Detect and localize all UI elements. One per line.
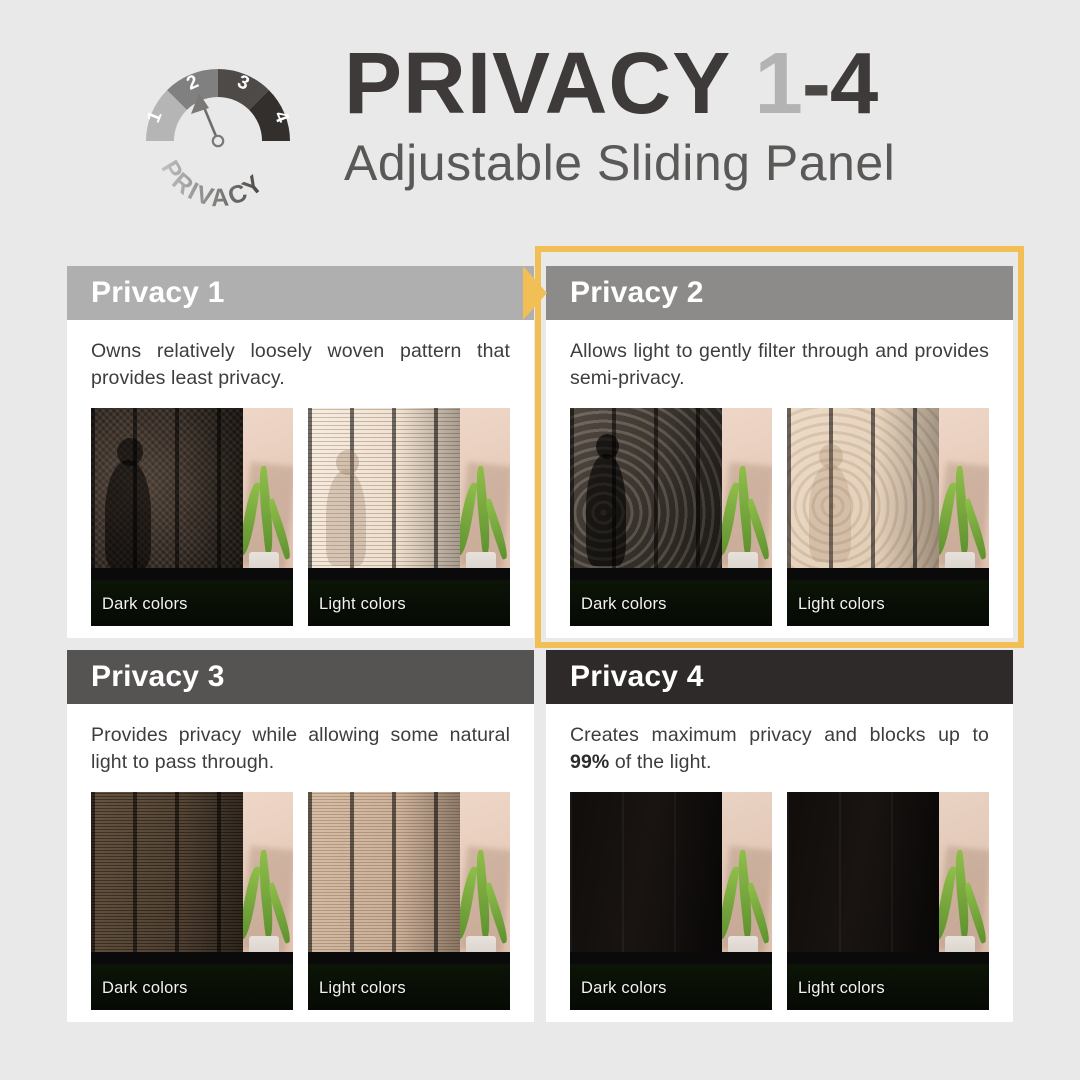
privacy-card-3-photos: Dark colors Light colors [91, 792, 510, 1010]
privacy-card-4-description-pre: Creates maximum privacy and blocks up to [570, 724, 989, 746]
page-header: 1 2 3 4 PRIVACY PRIVACY 1-4 Adjustable S… [0, 0, 1080, 240]
page-subtitle: Adjustable Sliding Panel [344, 131, 895, 195]
privacy-card-1-photo-light: Light colors [308, 408, 510, 626]
privacy-card-3-photo-light-caption: Light colors [319, 979, 406, 998]
privacy-card-4-photo-dark-caption: Dark colors [581, 979, 667, 998]
page-title-number-last: 4 [830, 35, 877, 132]
title-block: PRIVACY 1-4 Adjustable Sliding Panel [344, 41, 895, 194]
page-title: PRIVACY 1-4 [344, 41, 895, 126]
privacy-card-4-description-post: of the light. [609, 751, 711, 773]
privacy-card-2-title: Privacy 2 [570, 276, 704, 310]
privacy-card-3-header: Privacy 3 [67, 650, 534, 704]
privacy-card-2-photo-light-caption: Light colors [798, 595, 885, 614]
privacy-card-2-photo-light: Light colors [787, 408, 989, 626]
privacy-card-2-photo-dark-caption: Dark colors [581, 595, 667, 614]
right-arrow-marker-icon [523, 266, 547, 320]
privacy-card-3-title: Privacy 3 [91, 660, 225, 694]
page-title-number-first: 1 [754, 35, 801, 132]
privacy-card-4-title: Privacy 4 [570, 660, 704, 694]
privacy-card-3-body: Provides privacy while allowing some nat… [67, 704, 534, 1010]
privacy-card-2-photo-dark: Dark colors [570, 408, 772, 626]
privacy-card-2-header: Privacy 2 [546, 266, 1013, 320]
privacy-card-2-body: Allows light to gently filter through an… [546, 320, 1013, 626]
privacy-card-3[interactable]: Privacy 3 Provides privacy while allowin… [67, 650, 534, 1022]
privacy-card-4-photos: Dark colors Light colors [570, 792, 989, 1010]
privacy-card-1-body: Owns relatively loosely woven pattern th… [67, 320, 534, 626]
privacy-card-1-description: Owns relatively loosely woven pattern th… [91, 338, 510, 394]
privacy-card-3-description: Provides privacy while allowing some nat… [91, 722, 510, 778]
privacy-card-4[interactable]: Privacy 4 Creates maximum privacy and bl… [546, 650, 1013, 1022]
privacy-card-3-photo-dark: Dark colors [91, 792, 293, 1010]
page-title-dash: - [802, 35, 830, 132]
privacy-card-4-body: Creates maximum privacy and blocks up to… [546, 704, 1013, 1010]
privacy-card-4-photo-light-caption: Light colors [798, 979, 885, 998]
privacy-card-2-description: Allows light to gently filter through an… [570, 338, 989, 394]
gauge-curved-label: PRIVACY [155, 156, 270, 209]
privacy-card-3-photo-dark-caption: Dark colors [102, 979, 188, 998]
privacy-card-1-title: Privacy 1 [91, 276, 225, 310]
privacy-card-4-photo-dark: Dark colors [570, 792, 772, 1010]
privacy-card-4-description: Creates maximum privacy and blocks up to… [570, 722, 989, 778]
privacy-card-4-header: Privacy 4 [546, 650, 1013, 704]
privacy-card-4-photo-light: Light colors [787, 792, 989, 1010]
privacy-card-3-photo-light: Light colors [308, 792, 510, 1010]
privacy-card-1-photos: Dark colors Light colors [91, 408, 510, 626]
privacy-card-2-photos: Dark colors Light colors [570, 408, 989, 626]
privacy-card-1-photo-dark-caption: Dark colors [102, 595, 188, 614]
privacy-card-1-photo-dark: Dark colors [91, 408, 293, 626]
page-title-word: PRIVACY [344, 35, 731, 132]
gauge-pivot [213, 136, 223, 146]
privacy-card-4-blocked-percent: 99% [570, 751, 609, 773]
privacy-level-grid: Privacy 1 Owns relatively loosely woven … [0, 240, 1080, 1040]
privacy-card-1-photo-light-caption: Light colors [319, 595, 406, 614]
gauge-meter-icon: 1 2 3 4 PRIVACY [128, 37, 308, 209]
privacy-card-2[interactable]: Privacy 2 Allows light to gently filter … [546, 266, 1013, 638]
privacy-card-1-header: Privacy 1 [67, 266, 534, 320]
privacy-card-1[interactable]: Privacy 1 Owns relatively loosely woven … [67, 266, 534, 638]
